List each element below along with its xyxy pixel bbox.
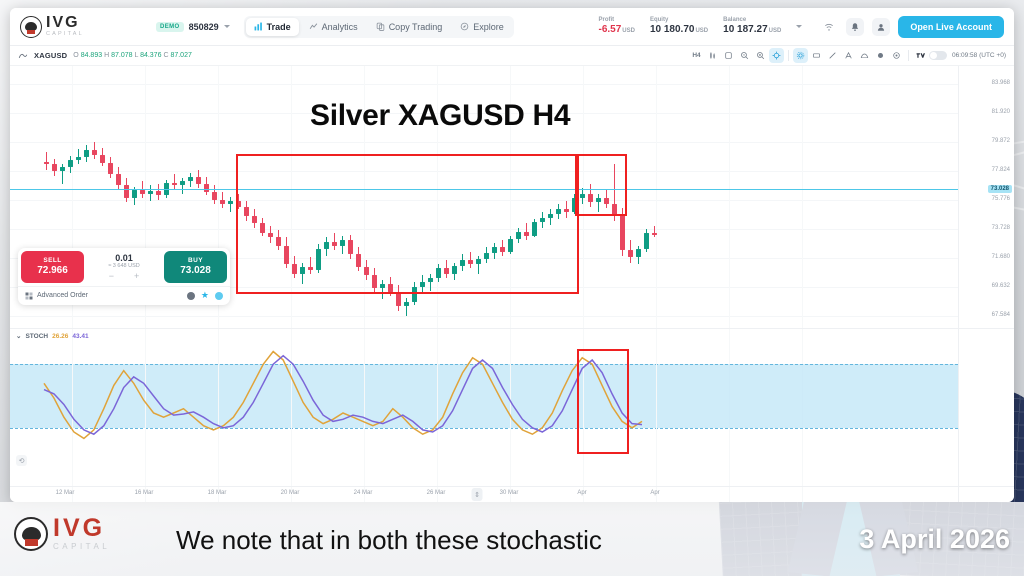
main-nav: Trade Analytics Copy Trading Explore bbox=[244, 16, 514, 38]
stat-balance-label: Balance bbox=[723, 17, 781, 24]
stat-balance-value: 10 187.27USD bbox=[723, 24, 781, 36]
stat-equity: Equity 10 180.70USD bbox=[650, 17, 708, 35]
trading-platform-window: IVG CAPITAL DEMO 850829 Trade Analytics … bbox=[10, 8, 1014, 502]
tab-trade[interactable]: Trade bbox=[246, 18, 299, 36]
buy-label: BUY bbox=[188, 257, 203, 265]
x-tick: Apr bbox=[577, 490, 586, 496]
settings-icon[interactable] bbox=[793, 48, 808, 63]
stat-profit-label: Profit bbox=[599, 17, 635, 24]
chart-toolbar: H4 06:09:58 (UTC +0) bbox=[689, 48, 1006, 63]
magnet-icon[interactable] bbox=[873, 48, 888, 63]
zoom-out-icon[interactable] bbox=[737, 48, 752, 63]
stochastic-k-value: 26.26 bbox=[52, 333, 68, 340]
crosshair-icon[interactable] bbox=[769, 48, 784, 63]
annotation-box-price-recent bbox=[575, 154, 627, 216]
y-tick: 71.680 bbox=[992, 254, 1010, 260]
subtitle-caption: We note that in both these stochastic bbox=[176, 525, 602, 556]
silver-symbol-icon bbox=[18, 51, 28, 61]
stochastic-legend: ⌄ STOCH 26.26 43.41 bbox=[16, 332, 89, 340]
toolbar-divider bbox=[788, 50, 789, 61]
stat-profit: Profit -6.57USD bbox=[599, 17, 635, 35]
lower-third-brand: IVG bbox=[53, 516, 110, 541]
time-axis-handle[interactable]: ⇕ bbox=[472, 488, 483, 501]
slide-title: Silver XAGUSD H4 bbox=[310, 99, 570, 133]
advanced-order-icon bbox=[25, 292, 33, 300]
tab-copy-trading-label: Copy Trading bbox=[389, 22, 443, 32]
order-ticket[interactable]: SELL 72.966 0.01 ≈ 3 648 USD − + BUY 73.… bbox=[18, 248, 230, 305]
brand-sub: CAPITAL bbox=[46, 32, 84, 38]
fib-icon[interactable] bbox=[857, 48, 872, 63]
stochastic-lines bbox=[10, 329, 958, 471]
x-tick: 18 Mar bbox=[208, 490, 227, 496]
ticket-footer: Advanced Order ★ bbox=[18, 286, 230, 305]
text-icon[interactable] bbox=[841, 48, 856, 63]
tradingview-icon[interactable] bbox=[913, 48, 928, 63]
user-icon[interactable] bbox=[872, 18, 890, 36]
brand-logo[interactable]: IVG CAPITAL bbox=[20, 15, 140, 38]
bull-logo-icon bbox=[14, 517, 48, 551]
tab-explore[interactable]: Explore bbox=[452, 18, 512, 36]
advanced-order-link[interactable]: Advanced Order bbox=[37, 292, 88, 299]
x-tick: 26 Mar bbox=[427, 490, 446, 496]
tab-trade-label: Trade bbox=[267, 22, 291, 32]
zoom-in-icon[interactable] bbox=[753, 48, 768, 63]
current-price-tag: 73.028 bbox=[988, 185, 1012, 193]
quantity-increment[interactable]: + bbox=[134, 271, 139, 281]
timeframe-button[interactable]: H4 bbox=[689, 48, 704, 63]
stochastic-d-value: 43.41 bbox=[72, 333, 88, 340]
stat-profit-value: -6.57USD bbox=[599, 24, 635, 36]
stat-equity-label: Equity bbox=[650, 17, 708, 24]
tab-analytics-label: Analytics bbox=[322, 22, 358, 32]
brand-name: IVG bbox=[46, 15, 84, 31]
y-tick: 73.728 bbox=[992, 225, 1010, 231]
sell-button[interactable]: SELL 72.966 bbox=[21, 251, 84, 283]
tab-explore-label: Explore bbox=[473, 22, 504, 32]
lower-third-brand-sub: CAPITAL bbox=[53, 543, 110, 551]
app-topbar: IVG CAPITAL DEMO 850829 Trade Analytics … bbox=[10, 8, 1014, 46]
stats-chevron-down-icon[interactable] bbox=[796, 25, 802, 28]
explore-icon bbox=[460, 22, 469, 31]
stat-equity-value: 10 180.70USD bbox=[650, 24, 708, 36]
buy-price: 73.028 bbox=[180, 265, 211, 278]
account-number: 850829 bbox=[189, 22, 219, 32]
y-tick: 77.824 bbox=[992, 167, 1010, 173]
gear-icon[interactable] bbox=[889, 48, 904, 63]
x-tick: 30 Mar bbox=[500, 490, 519, 496]
analytics-icon bbox=[309, 22, 318, 31]
time-axis[interactable]: 12 Mar 16 Mar 18 Mar 20 Mar 24 Mar 26 Ma… bbox=[10, 486, 1014, 502]
y-tick: 67.584 bbox=[992, 312, 1010, 318]
buy-button[interactable]: BUY 73.028 bbox=[164, 251, 227, 283]
stochastic-name: STOCH bbox=[25, 333, 48, 340]
square-icon[interactable] bbox=[721, 48, 736, 63]
quantity-value: 0.01 bbox=[115, 253, 133, 263]
lower-third-logo: IVG CAPITAL bbox=[14, 516, 110, 551]
chevron-down-icon[interactable]: ⌄ bbox=[16, 332, 21, 340]
annotation-box-price-main bbox=[236, 154, 579, 294]
bell-icon[interactable] bbox=[846, 18, 864, 36]
chart-ohlc: O 84.893 H 87.078 L 84.376 C 87.027 bbox=[73, 52, 192, 59]
chart-area[interactable]: Silver XAGUSD H4 SELL 72.966 0.01 ≈ 3 64… bbox=[10, 66, 1014, 502]
account-selector[interactable]: DEMO 850829 bbox=[156, 22, 230, 32]
toolbar-divider-2 bbox=[908, 50, 909, 61]
account-stats: Profit -6.57USD Equity 10 180.70USD Bala… bbox=[599, 17, 803, 35]
topbar-actions: Open Live Account bbox=[820, 16, 1004, 38]
info-icon[interactable] bbox=[187, 292, 195, 300]
stochastic-pane[interactable]: ⌄ STOCH 26.26 43.41 ⟲ bbox=[10, 328, 1014, 470]
y-tick: 81.920 bbox=[992, 109, 1010, 115]
lower-third-bar: IVG CAPITAL We note that in both these s… bbox=[0, 502, 1024, 576]
stat-balance: Balance 10 187.27USD bbox=[723, 17, 781, 35]
bull-logo-icon bbox=[20, 16, 42, 38]
x-tick: 20 Mar bbox=[281, 490, 300, 496]
chart-symbol[interactable]: XAGUSD bbox=[34, 51, 67, 60]
tab-analytics[interactable]: Analytics bbox=[301, 18, 366, 36]
price-axis[interactable]: 83.968 81.920 79.872 77.824 75.776 73.72… bbox=[958, 66, 1014, 502]
chevron-down-icon bbox=[224, 25, 230, 28]
chart-header: XAGUSD O 84.893 H 87.078 L 84.376 C 87.0… bbox=[10, 46, 1014, 66]
quantity-stepper[interactable]: 0.01 ≈ 3 648 USD − + bbox=[87, 248, 161, 286]
sell-price: 72.966 bbox=[37, 265, 68, 278]
demo-badge: DEMO bbox=[156, 22, 184, 32]
tradingview-toggle[interactable] bbox=[929, 51, 947, 60]
quantity-approx: ≈ 3 648 USD bbox=[108, 263, 139, 269]
y-tick: 83.968 bbox=[992, 80, 1010, 86]
favorite-star-icon[interactable]: ★ bbox=[201, 291, 209, 300]
x-tick: Apr bbox=[650, 490, 659, 496]
rectangle-icon[interactable] bbox=[809, 48, 824, 63]
sell-label: SELL bbox=[43, 257, 61, 265]
tab-copy-trading[interactable]: Copy Trading bbox=[368, 18, 451, 36]
x-tick: 12 Mar bbox=[56, 490, 75, 496]
chart-clock: 06:09:58 (UTC +0) bbox=[952, 52, 1006, 59]
reset-chart-button[interactable]: ⟲ bbox=[16, 455, 27, 466]
trendline-icon[interactable] bbox=[825, 48, 840, 63]
stochastic-line bbox=[44, 356, 642, 435]
quantity-decrement[interactable]: − bbox=[109, 271, 114, 281]
x-tick: 24 Mar bbox=[354, 490, 373, 496]
x-tick: 16 Mar bbox=[135, 490, 154, 496]
alert-icon[interactable] bbox=[215, 292, 223, 300]
bar-chart-icon bbox=[254, 22, 263, 31]
y-tick: 69.632 bbox=[992, 283, 1010, 289]
wifi-icon[interactable] bbox=[820, 18, 838, 36]
open-live-account-button[interactable]: Open Live Account bbox=[898, 16, 1004, 38]
video-date: 3 April 2026 bbox=[859, 524, 1010, 555]
y-tick: 75.776 bbox=[992, 196, 1010, 202]
copy-trading-icon bbox=[376, 22, 385, 31]
candles-icon[interactable] bbox=[705, 48, 720, 63]
annotation-box-stochastic bbox=[577, 349, 629, 454]
y-tick: 79.872 bbox=[992, 138, 1010, 144]
